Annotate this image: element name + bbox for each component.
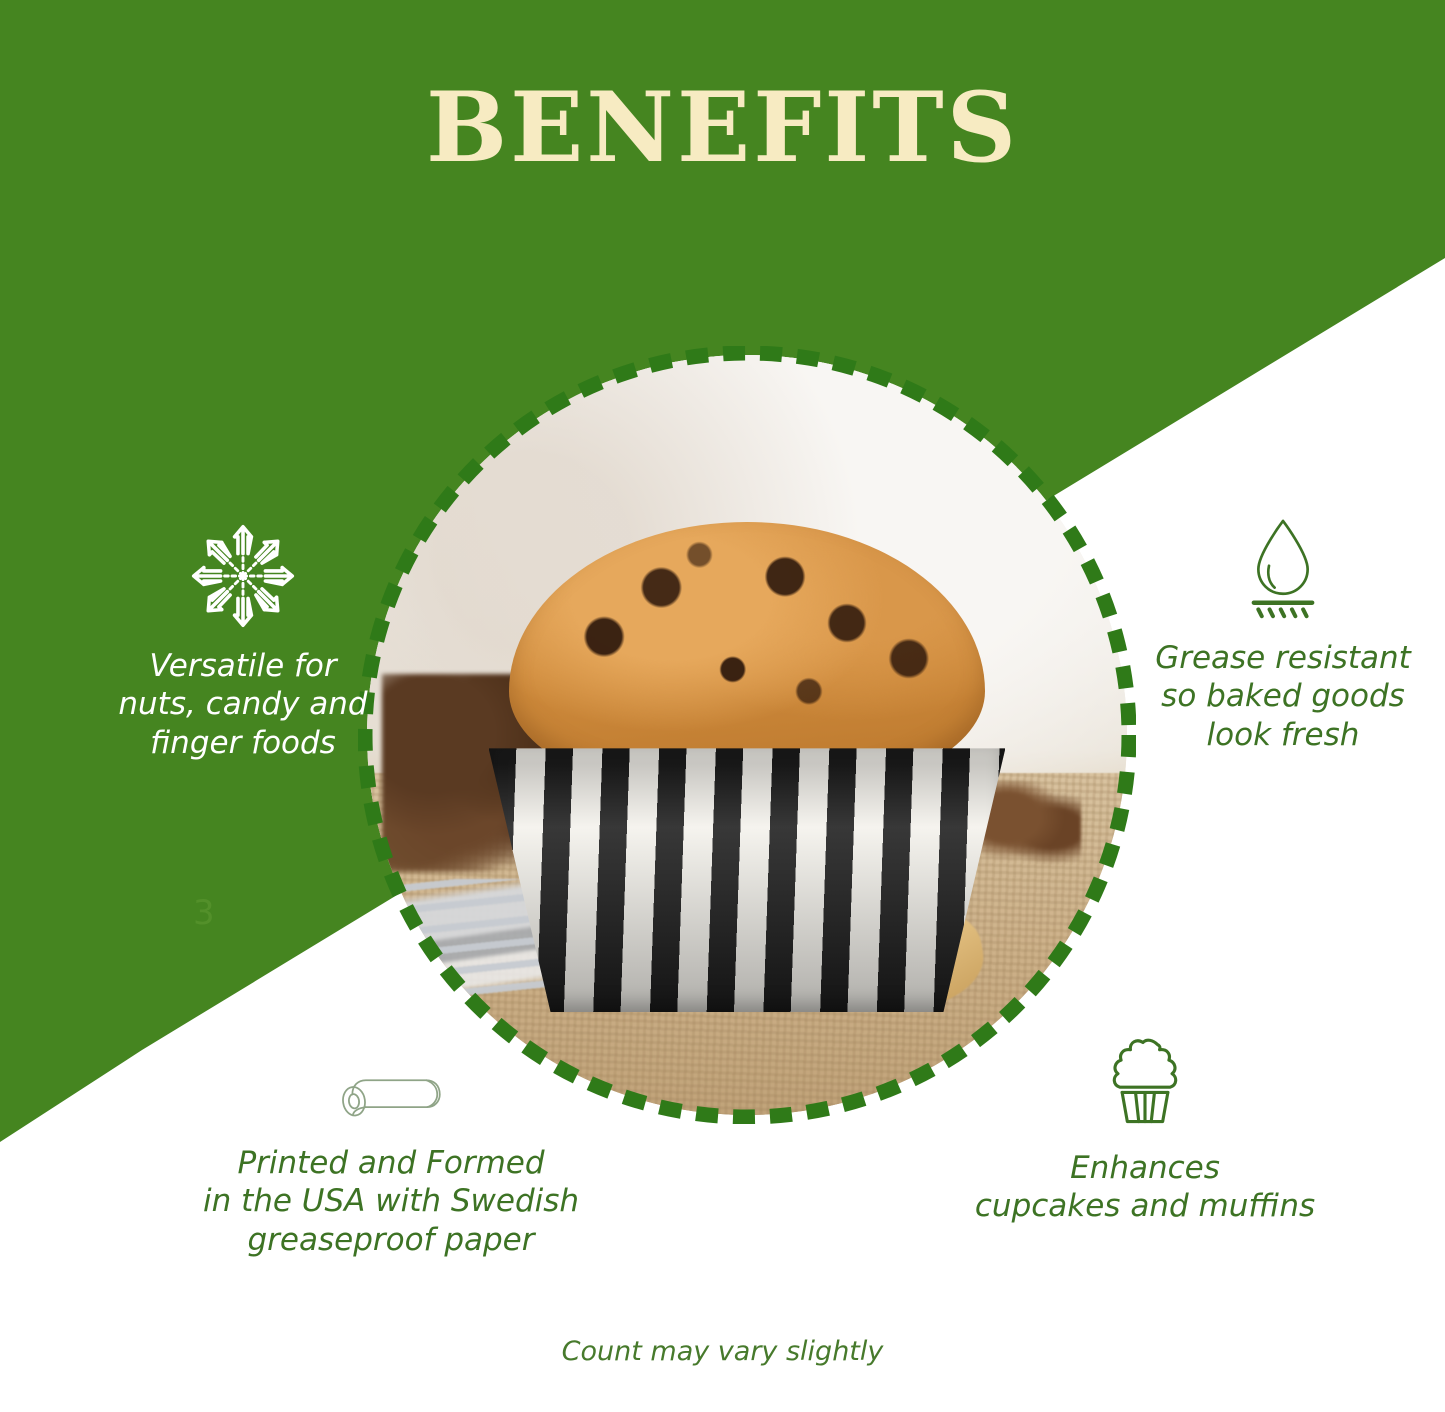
- expand-arrows-icon: [78, 520, 408, 637]
- paper-roll-icon: [196, 1055, 586, 1134]
- feature-enhances-cupcakes: Enhances cupcakes and muffins: [950, 1030, 1340, 1226]
- water-droplet-repel-icon: [1128, 512, 1438, 629]
- hero-image-circle: [358, 346, 1136, 1124]
- hero-photo: [367, 355, 1127, 1115]
- benefits-infographic: BENEFITS 3: [0, 0, 1445, 1412]
- muffin-baking-cup: [489, 748, 1006, 1012]
- feature-caption: Grease resistant so baked goods look fre…: [1155, 640, 1411, 753]
- page-title: BENEFITS: [0, 78, 1445, 179]
- feature-caption: Versatile for nuts, candy and finger foo…: [118, 648, 367, 761]
- feature-made-in-usa: Printed and Formed in the USA with Swedi…: [196, 1055, 586, 1259]
- footer-note: Count may vary slightly: [0, 1336, 1445, 1367]
- stray-mark: 3: [193, 893, 215, 933]
- feature-versatile: Versatile for nuts, candy and finger foo…: [78, 520, 408, 762]
- feature-caption: Printed and Formed in the USA with Swedi…: [203, 1145, 579, 1258]
- cupcake-icon: [950, 1030, 1340, 1139]
- muffin-icon: [489, 522, 1006, 993]
- feature-caption: Enhances cupcakes and muffins: [975, 1150, 1315, 1224]
- feature-grease-resistant: Grease resistant so baked goods look fre…: [1128, 512, 1438, 754]
